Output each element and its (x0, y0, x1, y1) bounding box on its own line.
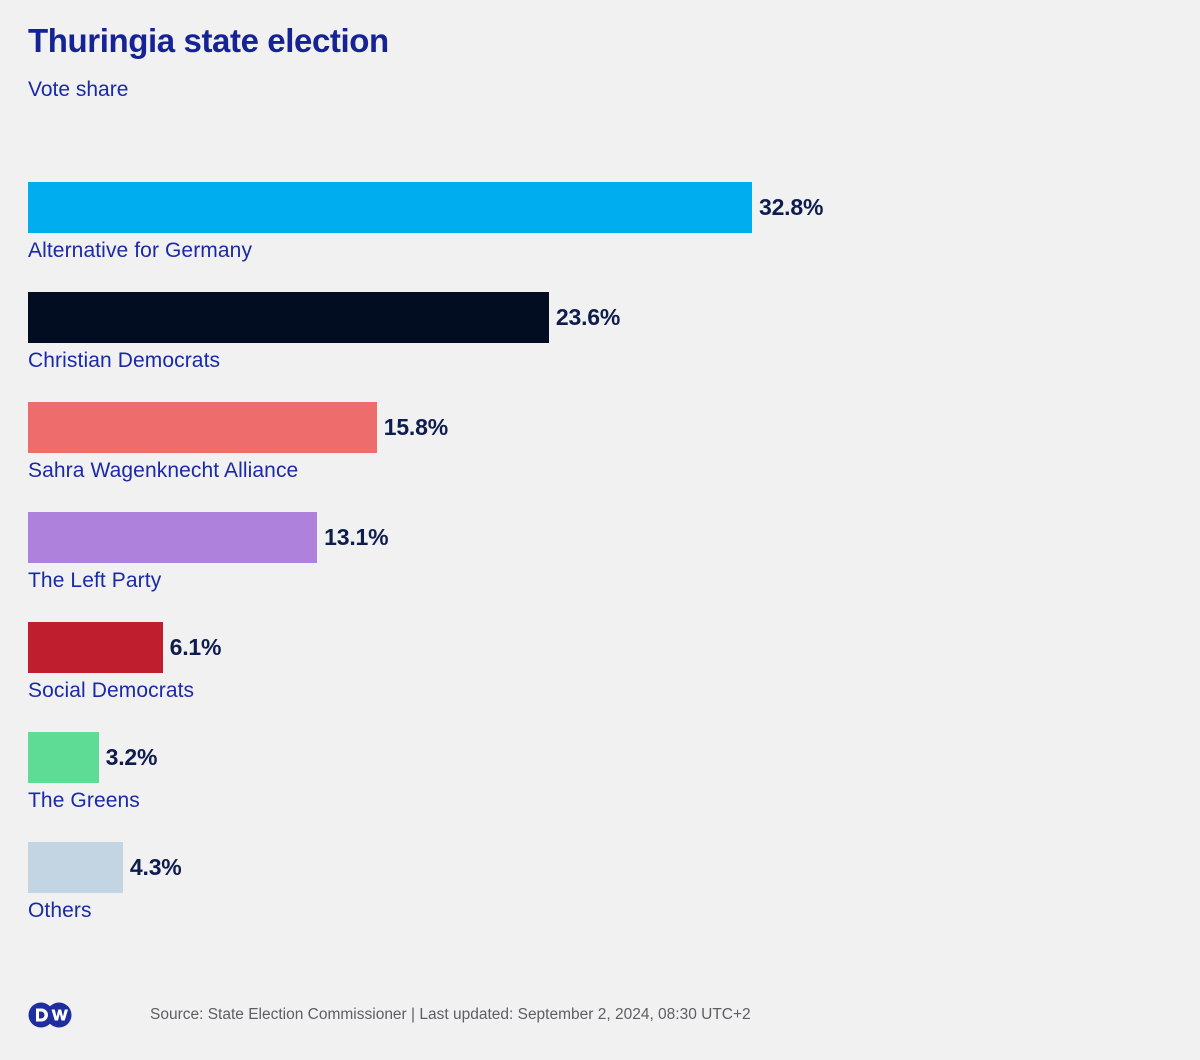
bar-value-label: 23.6% (556, 304, 620, 331)
bar-row: 6.1%Social Democrats (28, 622, 1172, 732)
bar-category-label: The Left Party (28, 569, 161, 593)
bar-rect[interactable] (28, 732, 99, 783)
bar-value-label: 15.8% (384, 414, 448, 441)
bar-line: 4.3% (28, 842, 1172, 893)
bar-rect[interactable] (28, 512, 317, 563)
bar-rect[interactable] (28, 842, 123, 893)
bar-row: 13.1%The Left Party (28, 512, 1172, 622)
bar-rect[interactable] (28, 182, 752, 233)
bar-category-label: Alternative for Germany (28, 239, 252, 263)
bar-line: 15.8% (28, 402, 1172, 453)
bar-category-label: Christian Democrats (28, 349, 220, 373)
bar-category-label: Sahra Wagenknecht Alliance (28, 459, 298, 483)
dw-logo-icon (28, 1002, 72, 1028)
bar-line: 32.8% (28, 182, 1172, 233)
bar-row: 23.6%Christian Democrats (28, 292, 1172, 402)
bar-value-label: 3.2% (106, 744, 158, 771)
bar-row: 15.8%Sahra Wagenknecht Alliance (28, 402, 1172, 512)
bar-line: 23.6% (28, 292, 1172, 343)
bar-category-label: Social Democrats (28, 679, 194, 703)
bar-line: 6.1% (28, 622, 1172, 673)
chart-container: Thuringia state election Vote share 32.8… (0, 0, 1200, 1060)
bar-rect[interactable] (28, 402, 377, 453)
bar-line: 3.2% (28, 732, 1172, 783)
bar-line: 13.1% (28, 512, 1172, 563)
bar-value-label: 4.3% (130, 854, 182, 881)
bar-rect[interactable] (28, 292, 549, 343)
bar-category-label: Others (28, 899, 92, 923)
bar-category-label: The Greens (28, 789, 140, 813)
chart-title: Thuringia state election (28, 22, 1028, 60)
chart-footer: Source: State Election Commissioner | La… (28, 995, 1172, 1035)
bar-value-label: 32.8% (759, 194, 823, 221)
bar-chart-plot-area: 32.8%Alternative for Germany23.6%Christi… (28, 182, 1172, 952)
bar-row: 4.3%Others (28, 842, 1172, 952)
bar-value-label: 13.1% (324, 524, 388, 551)
bar-row: 3.2%The Greens (28, 732, 1172, 842)
chart-subtitle: Vote share (28, 77, 1028, 102)
bar-rect[interactable] (28, 622, 163, 673)
bar-value-label: 6.1% (170, 634, 222, 661)
chart-header: Thuringia state election Vote share (28, 22, 1028, 102)
bar-row: 32.8%Alternative for Germany (28, 182, 1172, 292)
source-attribution: Source: State Election Commissioner | La… (150, 1006, 751, 1024)
